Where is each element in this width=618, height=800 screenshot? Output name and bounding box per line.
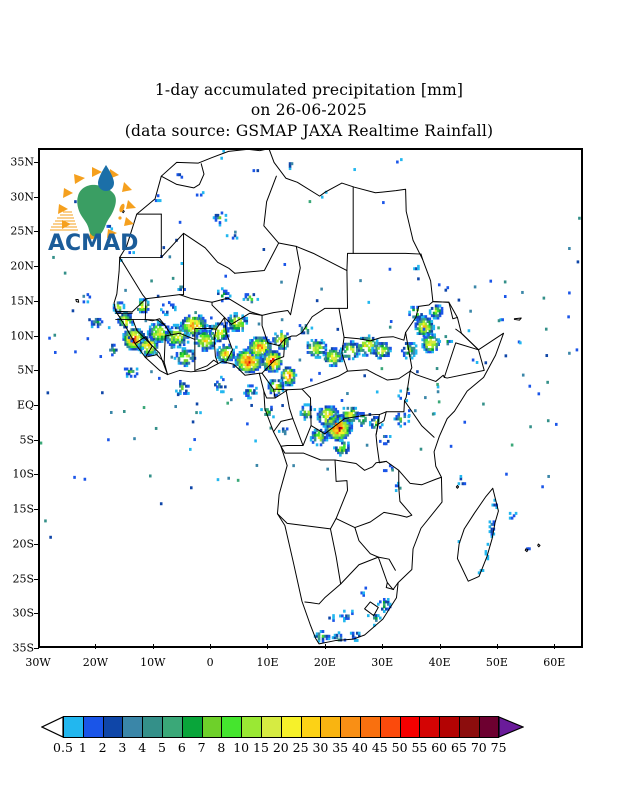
precip-cell — [155, 427, 158, 430]
precip-cell — [280, 281, 283, 284]
precip-cell — [423, 328, 426, 331]
precip-cell — [258, 323, 261, 326]
precip-cell — [48, 337, 51, 340]
title-line-2: on 26-06-2025 — [0, 100, 618, 120]
colorbar-tick-label: 1 — [79, 740, 87, 755]
colorbar-segment — [400, 716, 420, 738]
boundary-line — [433, 302, 449, 303]
precip-cell — [463, 421, 466, 424]
precip-cell — [219, 216, 222, 219]
precip-cell — [485, 361, 488, 364]
boundary-line — [291, 246, 301, 314]
precip-cell — [263, 248, 266, 251]
precip-cell — [354, 407, 357, 410]
precip-cell — [174, 405, 177, 408]
precip-cell — [291, 162, 294, 165]
precip-cell — [47, 391, 50, 394]
precip-cell — [211, 337, 214, 340]
precip-cell — [179, 221, 182, 224]
colorbar-tick-label: 2 — [99, 740, 107, 755]
precip-cell — [568, 291, 571, 294]
precip-cell — [217, 290, 220, 293]
precip-cell — [281, 404, 284, 407]
precip-cell — [227, 327, 230, 330]
precip-cell — [253, 169, 256, 172]
boundary-line — [296, 271, 347, 336]
colorbar-segment — [241, 716, 261, 738]
precip-cell — [404, 422, 407, 425]
latitude-tick-label: 20S — [12, 537, 34, 550]
precip-cell — [166, 311, 169, 314]
precip-cell — [348, 355, 351, 358]
precip-cell — [54, 334, 57, 337]
precip-cell — [225, 214, 228, 217]
precip-cell — [568, 352, 571, 355]
precip-cell — [283, 263, 286, 266]
title-line-1: 1-day accumulated precipitation [mm] — [0, 80, 618, 100]
precip-cell — [353, 168, 356, 171]
precip-cell — [482, 403, 485, 406]
latitude-tick-label: 25S — [12, 572, 34, 585]
precip-cell — [101, 391, 104, 394]
precip-cell — [227, 477, 230, 480]
precip-cell — [194, 311, 197, 314]
precip-cell — [385, 435, 388, 438]
colorbar-segment — [63, 716, 83, 738]
precip-cell — [474, 285, 477, 288]
precip-cell — [303, 331, 306, 334]
longitude-tick — [382, 644, 383, 649]
precip-cell — [325, 344, 328, 347]
precip-cell — [286, 427, 289, 430]
precip-cell — [328, 617, 331, 620]
colorbar-over-arrow — [498, 716, 524, 738]
precip-cell — [485, 550, 488, 553]
precip-cell — [119, 306, 122, 309]
precip-cell — [206, 324, 209, 327]
boundary-line — [161, 233, 234, 273]
precip-cell — [468, 329, 471, 332]
precip-cell — [458, 482, 461, 485]
precip-cell — [326, 434, 329, 437]
title-line-3: (data source: GSMAP JAXA Realtime Rainfa… — [0, 121, 618, 141]
boundary-line — [365, 602, 379, 616]
precip-cell — [209, 325, 212, 328]
precip-cell — [108, 326, 111, 329]
precip-cell — [417, 277, 420, 280]
boundary-line — [386, 461, 441, 484]
precip-cell — [343, 610, 346, 613]
boundary-line — [305, 557, 378, 604]
precip-cell — [318, 372, 321, 375]
precip-cell — [49, 536, 52, 539]
precip-cell — [415, 344, 418, 347]
boundary-line — [336, 512, 407, 527]
precip-cell — [528, 385, 531, 388]
precip-cell — [341, 399, 344, 402]
precip-cell — [363, 374, 366, 377]
logo-water-droplet — [98, 165, 114, 191]
precip-cell — [282, 382, 285, 385]
precip-cell — [555, 423, 558, 426]
precip-cell — [387, 440, 390, 443]
precip-cell — [356, 639, 359, 642]
latitude-tick-label: 30S — [12, 607, 34, 620]
chart-title: 1-day accumulated precipitation [mm] on … — [0, 80, 618, 141]
precip-cell — [159, 199, 162, 202]
colorbar-segment — [380, 716, 400, 738]
precip-cell — [261, 363, 264, 366]
precip-cell — [366, 444, 369, 447]
colorbar-tick-label: 35 — [332, 740, 348, 755]
colorbar-tick-label: 15 — [253, 740, 269, 755]
precip-cell — [192, 420, 195, 423]
precip-cell — [438, 400, 441, 403]
precip-cell — [390, 320, 393, 323]
precip-cell — [343, 442, 346, 445]
longitude-tick-label: 20W — [83, 656, 108, 669]
precip-cell — [188, 362, 191, 365]
latitude-axis: 35N30N25N20N15N10N5NEQ5S10S15S20S25S30S3… — [0, 148, 34, 648]
precip-cell — [162, 303, 165, 306]
precip-cell — [416, 370, 419, 373]
precip-cell — [458, 299, 461, 302]
longitude-tick-label: 40E — [429, 656, 451, 669]
precip-cell — [408, 414, 411, 417]
precip-cell — [567, 315, 570, 318]
precip-cell — [504, 295, 507, 298]
precip-cell — [115, 349, 118, 352]
precip-cell — [222, 378, 225, 381]
colorbar-segment — [261, 716, 281, 738]
precip-cell — [132, 370, 135, 373]
precip-cell — [123, 410, 126, 413]
precip-cell — [577, 260, 580, 263]
colorbar-segment — [83, 716, 103, 738]
colorbar-segment — [103, 716, 123, 738]
precip-cell — [568, 247, 571, 250]
precip-cell — [538, 392, 541, 395]
precip-cell — [436, 383, 439, 386]
precip-cell — [400, 158, 403, 161]
precip-cell — [74, 350, 77, 353]
precip-cell — [278, 430, 281, 433]
precip-cell — [299, 359, 302, 362]
precip-cell — [172, 277, 175, 280]
latitude-tick-label: 20N — [10, 260, 34, 273]
colorbar-tick-label: 20 — [273, 740, 289, 755]
precip-cell — [235, 346, 238, 349]
precip-cell — [431, 307, 434, 310]
precip-cell — [319, 356, 322, 359]
precip-cell — [382, 201, 385, 204]
precip-cell — [188, 314, 191, 317]
precip-cell — [251, 384, 254, 387]
boundary-line — [538, 544, 540, 547]
precip-cell — [379, 440, 382, 443]
logo-africa-shape — [77, 185, 116, 237]
precip-cell — [501, 318, 504, 321]
longitude-tick-label: 10W — [140, 656, 165, 669]
precip-cell — [149, 474, 152, 477]
precip-cell — [396, 161, 399, 164]
precip-cell — [389, 347, 392, 350]
precip-cell — [174, 306, 177, 309]
precip-cell — [368, 334, 371, 337]
precip-cell — [84, 478, 87, 481]
precip-cell — [255, 392, 258, 395]
precip-cell — [40, 442, 42, 445]
longitude-tick-label: 30E — [371, 656, 393, 669]
boundary-line — [335, 460, 386, 470]
precip-cell — [101, 320, 104, 323]
precip-cell — [270, 406, 273, 409]
precip-cell — [420, 448, 423, 451]
precip-cell — [395, 489, 398, 492]
colorbar-tick-label: 40 — [352, 740, 368, 755]
precip-cell — [224, 385, 227, 388]
precip-cell — [399, 390, 402, 393]
precip-cell — [189, 448, 192, 451]
precip-cell — [129, 313, 132, 316]
colorbar-tick-label: 75 — [491, 740, 507, 755]
precip-cell — [225, 219, 228, 222]
precip-cell — [379, 617, 382, 620]
longitude-tick — [325, 644, 326, 649]
precip-cell — [197, 317, 200, 320]
precip-cell — [187, 385, 190, 388]
precip-cell — [310, 379, 313, 382]
precip-cell — [44, 519, 47, 522]
precip-cell — [522, 374, 525, 377]
precip-cell — [337, 410, 340, 413]
colorbar-segment — [202, 716, 222, 738]
precip-cell — [343, 407, 346, 410]
precip-cell — [367, 301, 370, 304]
precip-cell — [210, 316, 213, 319]
precip-cell — [431, 320, 434, 323]
precip-cell — [136, 372, 139, 375]
precip-cell — [64, 272, 67, 275]
precip-cell — [226, 351, 229, 354]
colorbar-tick-label: 10 — [233, 740, 249, 755]
precip-cell — [521, 291, 524, 294]
precip-cell — [157, 194, 160, 197]
precip-cell — [253, 293, 256, 296]
precip-cell — [229, 314, 232, 317]
precip-cell — [433, 333, 436, 336]
precip-cell — [143, 406, 146, 409]
precip-cell — [472, 359, 475, 362]
boundary-line — [277, 446, 347, 529]
colorbar-segment — [439, 716, 459, 738]
precip-cell — [107, 438, 110, 441]
precip-cell — [385, 342, 388, 345]
precip-cell — [280, 330, 283, 333]
precip-cell — [221, 212, 224, 215]
precip-cell — [87, 300, 90, 303]
precip-cell — [52, 256, 55, 259]
precip-cell — [136, 368, 139, 371]
precip-cell — [82, 295, 85, 298]
precip-cell — [171, 346, 174, 349]
boundary-line — [379, 371, 410, 414]
precip-cell — [87, 337, 90, 340]
precip-cell — [450, 445, 453, 448]
precip-cell — [381, 367, 384, 370]
precip-cell — [219, 221, 222, 224]
precip-cell — [379, 600, 382, 603]
precip-cell — [519, 341, 522, 344]
precip-cell — [193, 438, 196, 441]
precip-cell — [328, 635, 331, 638]
precip-cell — [397, 413, 400, 416]
precip-cell — [543, 297, 546, 300]
precip-cell — [364, 417, 367, 420]
longitude-tick — [38, 644, 39, 649]
precip-cell — [99, 355, 102, 358]
boundary-line — [330, 529, 340, 584]
precip-cell — [436, 367, 439, 370]
precip-cell — [226, 402, 229, 405]
precip-cell — [460, 475, 463, 478]
precip-cell — [438, 283, 441, 286]
precip-cell — [292, 464, 295, 467]
precip-cell — [446, 286, 449, 289]
precip-cell — [142, 333, 145, 336]
precip-cell — [320, 288, 323, 291]
precip-cell — [337, 328, 340, 331]
precip-cell — [399, 397, 402, 400]
precip-cell — [113, 344, 116, 347]
latitude-tick-label: 25N — [10, 225, 34, 238]
colorbar-segment — [182, 716, 202, 738]
precip-cell — [322, 630, 325, 633]
precip-cell — [293, 369, 296, 372]
precip-cell — [340, 634, 343, 637]
precip-cell — [321, 196, 324, 199]
precip-cell — [541, 485, 544, 488]
precip-cell — [441, 307, 444, 310]
precip-cell — [347, 442, 350, 445]
boundary-line — [293, 419, 303, 446]
precip-cell — [171, 356, 174, 359]
precip-cell — [196, 402, 199, 405]
precip-cell — [420, 313, 423, 316]
precip-cell — [192, 350, 195, 353]
precip-cell — [376, 390, 379, 393]
precip-cell — [347, 614, 350, 617]
precip-cell — [72, 309, 75, 312]
precip-cell — [83, 300, 86, 303]
precip-cell — [313, 408, 316, 411]
precip-cell — [487, 543, 490, 546]
precip-cell — [251, 298, 254, 301]
longitude-tick — [440, 644, 441, 649]
precip-cell — [311, 327, 314, 330]
precip-cell — [464, 482, 467, 485]
latitude-tick-label: 30N — [10, 190, 34, 203]
precip-cell — [158, 377, 161, 380]
colorbar-tick-label: 60 — [431, 740, 447, 755]
boundary-line — [344, 333, 406, 341]
precip-cell — [545, 354, 548, 357]
colorbar-tick-label: 7 — [198, 740, 206, 755]
precip-cell — [278, 353, 281, 356]
precip-cell — [226, 234, 229, 237]
precip-cell — [199, 411, 202, 414]
precip-cell — [254, 439, 257, 442]
precip-cell — [281, 318, 284, 321]
precip-cell — [405, 399, 408, 402]
precip-cell — [408, 311, 411, 314]
colorbar-under-arrow — [41, 716, 64, 738]
precip-cell — [256, 298, 259, 301]
precip-cell — [326, 468, 329, 471]
precip-cell — [220, 157, 223, 160]
precip-cell — [358, 352, 361, 355]
precip-cell — [202, 191, 205, 194]
precip-cell — [335, 347, 338, 350]
precip-cell — [123, 304, 126, 307]
longitude-tick — [95, 644, 96, 649]
precip-cell — [337, 415, 340, 418]
precip-cell — [147, 308, 150, 311]
precip-cell — [407, 392, 410, 395]
precip-cell — [545, 328, 548, 331]
precip-cell — [309, 344, 312, 347]
precip-cell — [249, 396, 252, 399]
precip-cell — [280, 360, 283, 363]
precip-cell — [260, 408, 263, 411]
latitude-tick-label: 5S — [19, 433, 34, 446]
precip-cell — [389, 326, 392, 329]
precip-cell — [222, 390, 225, 393]
precip-cell — [272, 415, 275, 418]
precip-cell — [412, 306, 415, 309]
precip-cell — [196, 194, 199, 197]
precip-cell — [214, 383, 217, 386]
precip-cell — [365, 587, 368, 590]
precip-cell — [578, 217, 581, 220]
precip-cell — [147, 301, 150, 304]
colorbar-tick-label: 8 — [217, 740, 225, 755]
boundary-line — [262, 315, 296, 345]
colorbar-tick-label: 55 — [411, 740, 427, 755]
precip-cell — [362, 591, 365, 594]
colorbar-tick-label: 3 — [118, 740, 126, 755]
precip-cell — [133, 437, 136, 440]
precip-cell — [245, 317, 248, 320]
colorbar-segment — [320, 716, 340, 738]
precip-cell — [504, 280, 507, 283]
latitude-tick-label: 10N — [10, 329, 34, 342]
precip-cell — [511, 444, 514, 447]
longitude-tick-label: 60E — [543, 656, 565, 669]
precip-cell — [141, 347, 144, 350]
precip-cell — [295, 374, 298, 377]
boundary-line — [405, 401, 435, 438]
precip-cell — [177, 393, 180, 396]
precip-cell — [515, 512, 518, 515]
colorbar-segment — [221, 716, 241, 738]
precip-cell — [547, 419, 550, 422]
precip-cell — [301, 327, 304, 330]
boundary-line — [514, 318, 521, 320]
longitude-tick-label: 50E — [486, 656, 508, 669]
precip-cell — [366, 354, 369, 357]
precip-cell — [489, 280, 492, 283]
